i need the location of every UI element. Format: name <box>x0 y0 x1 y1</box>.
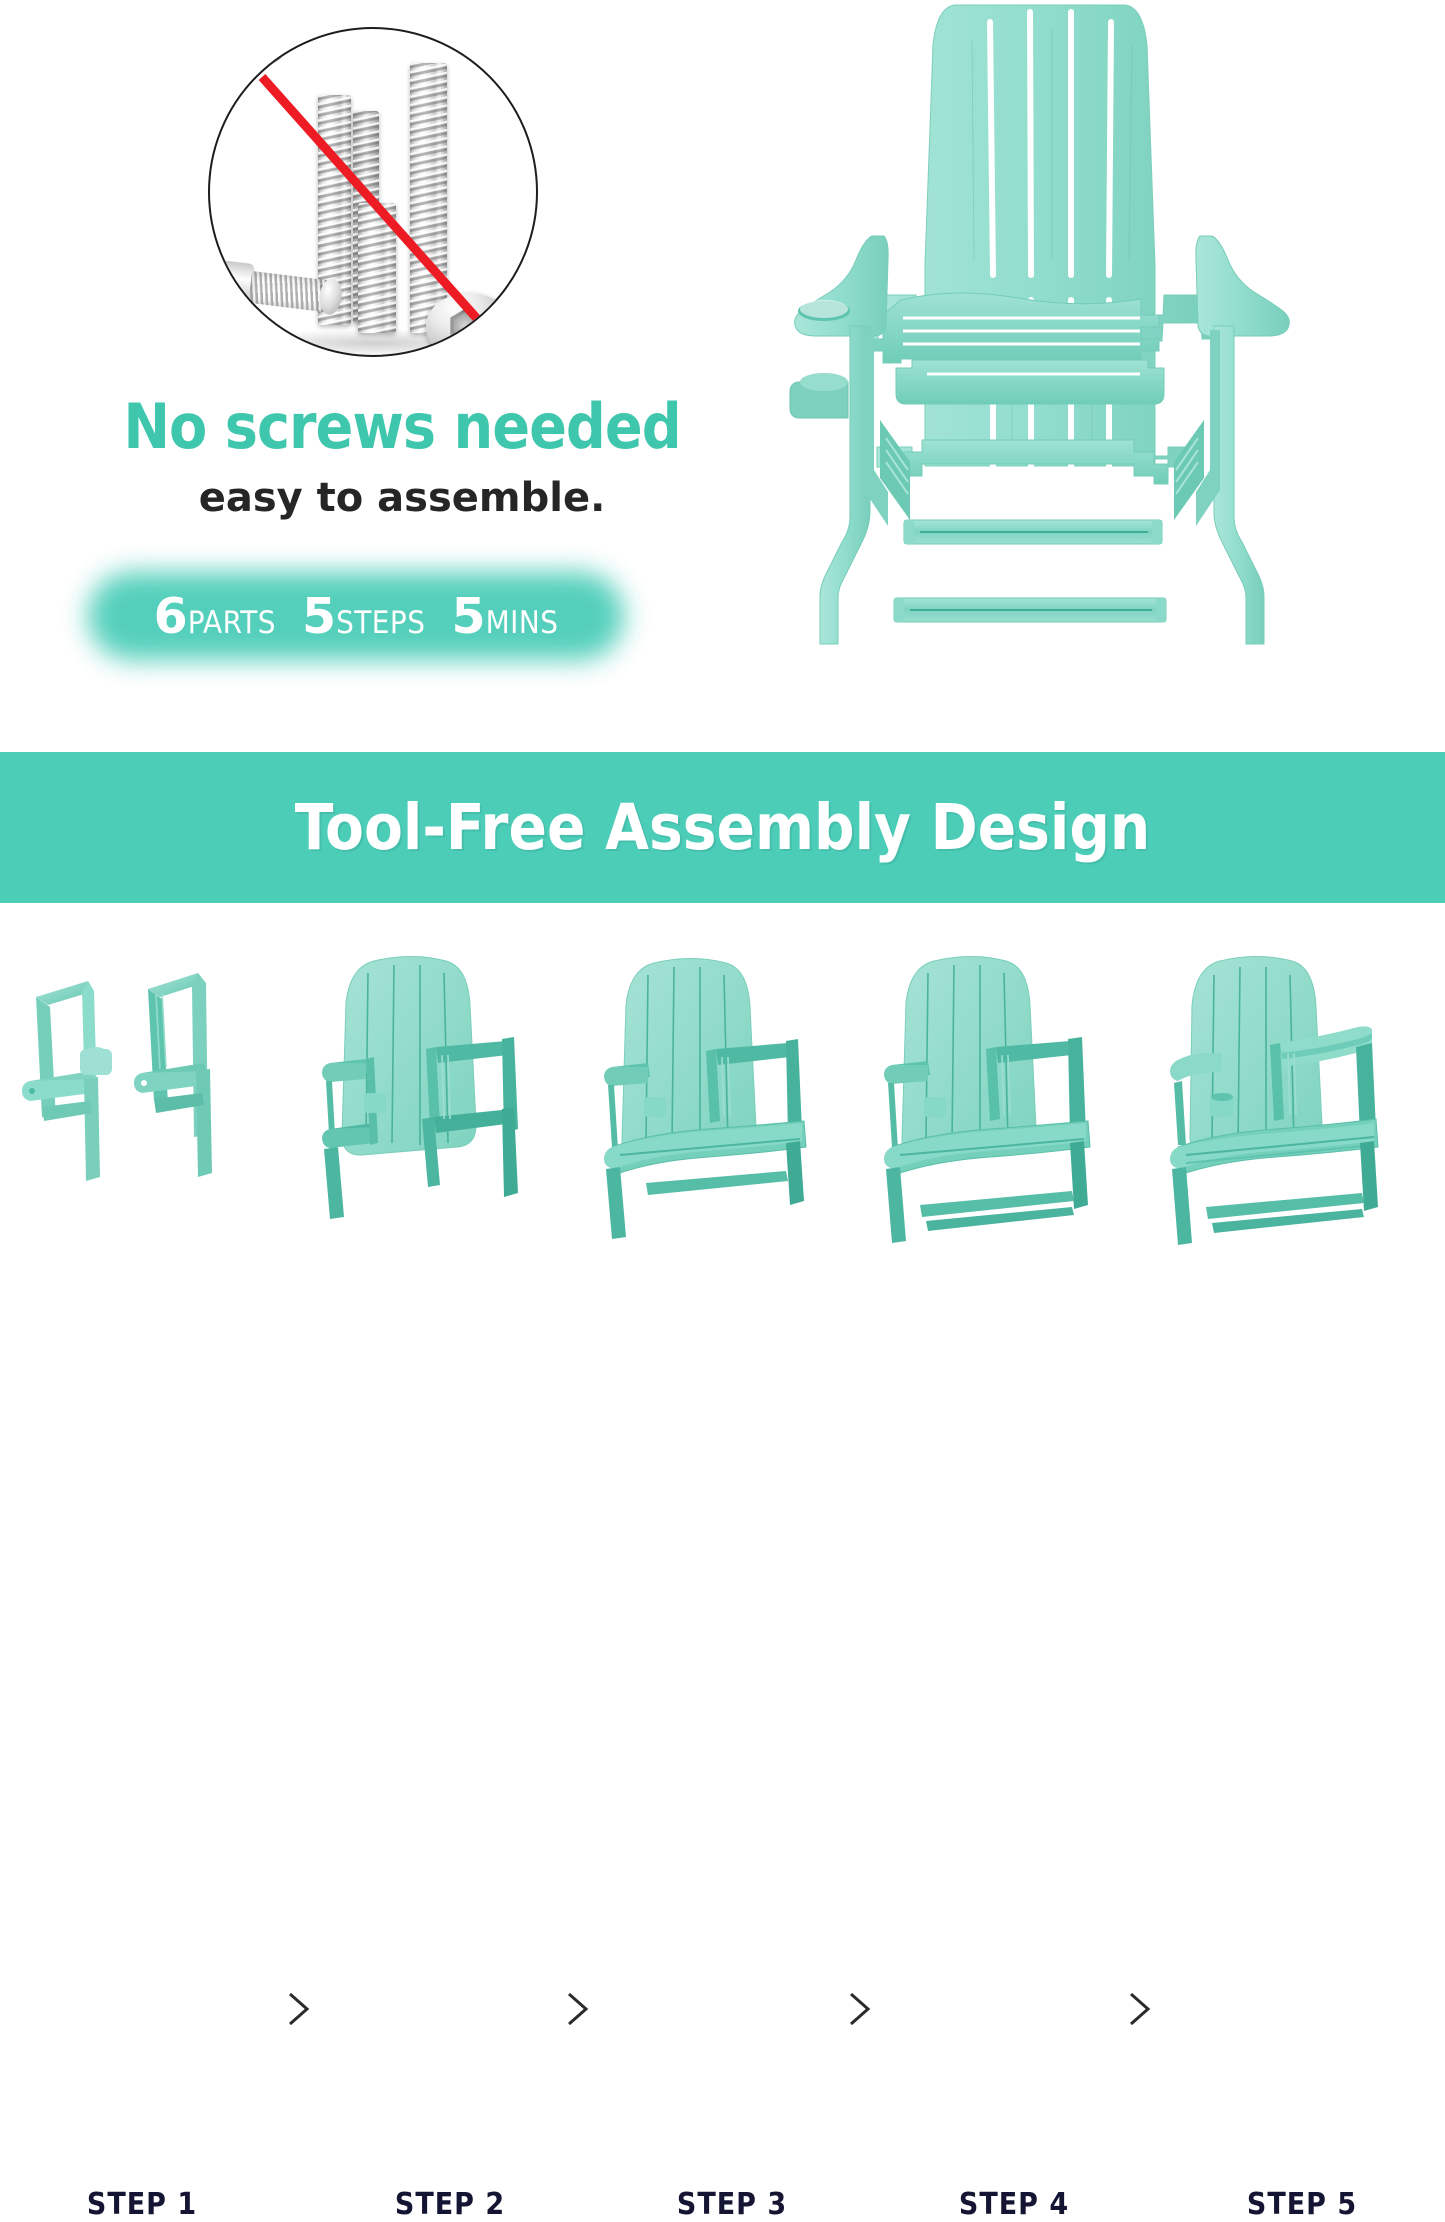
page-title: No screws needed <box>92 396 712 458</box>
step-cell-3 <box>598 951 866 1251</box>
stat-steps-unit: STEPS <box>336 608 425 639</box>
stat-mins-number: 5 <box>451 592 485 641</box>
step-5-illustration <box>1168 951 1436 1251</box>
step-2-illustration <box>316 951 584 1251</box>
chevron-right-icon-4 <box>1122 1988 1156 2030</box>
stat-parts-unit: PARTS <box>188 608 276 639</box>
stat-parts: 6 PARTS <box>154 592 276 641</box>
stat-steps-number: 5 <box>302 592 336 641</box>
part-lower-rail-lower <box>894 598 1166 622</box>
stats-row: 6 PARTS 5 STEPS 5 MINS <box>88 572 624 660</box>
stat-parts-number: 6 <box>154 592 188 641</box>
step-1-illustration <box>8 951 276 1251</box>
page-subtitle: easy to assemble. <box>92 478 712 518</box>
no-screws-photo-circle <box>208 27 538 357</box>
section-banner: Tool-Free Assembly Design <box>0 752 1445 903</box>
part-front-crossbar <box>888 440 1168 484</box>
chevron-right-icon-3 <box>842 1988 876 2030</box>
prohibition-slash-icon <box>210 29 536 355</box>
step-cell-4 <box>880 951 1148 1251</box>
step-3-illustration <box>598 951 866 1251</box>
stat-steps: 5 STEPS <box>302 592 426 641</box>
step-label-5: STEP 5 <box>1168 2187 1436 2222</box>
step-cell-1 <box>8 951 276 1251</box>
left-frame <box>22 981 112 1181</box>
chevron-right-icon-2 <box>560 1988 594 2030</box>
exploded-chair-parts-diagram <box>762 0 1322 700</box>
step-label-2: STEP 2 <box>316 2187 584 2222</box>
stat-mins: 5 MINS <box>451 592 558 641</box>
part-seat-front-lip <box>896 360 1164 404</box>
step-cell-2 <box>316 951 584 1251</box>
stat-mins-unit: MINS <box>486 608 559 639</box>
part-lower-rail-upper <box>904 520 1162 544</box>
step-4-illustration <box>880 951 1148 1251</box>
top-section: No screws needed easy to assemble. 6 PAR… <box>0 0 1445 752</box>
banner-title: Tool-Free Assembly Design <box>0 752 1445 903</box>
assembly-steps-section: STEP 1 <box>0 903 1445 1328</box>
step-cell-5 <box>1168 951 1436 1251</box>
chevron-right-icon-1 <box>281 1988 315 2030</box>
step-label-1: STEP 1 <box>8 2187 276 2222</box>
right-frame <box>134 973 212 1177</box>
step-label-4: STEP 4 <box>880 2187 1148 2222</box>
part-seat-panel <box>865 293 1159 364</box>
step-label-3: STEP 3 <box>598 2187 866 2222</box>
